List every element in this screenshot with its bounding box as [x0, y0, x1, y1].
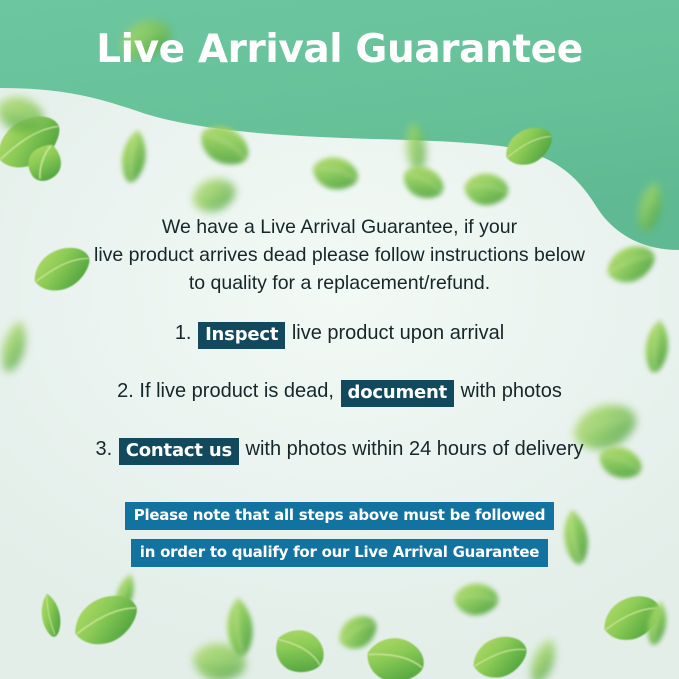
step-post-3: with photos within 24 hours of delivery	[246, 438, 584, 460]
note-bar-line-1: Please note that all steps above must be…	[125, 502, 555, 530]
note-bar-line-2: in order to qualify for our Live Arrival…	[131, 539, 548, 567]
step-post-2: with photos	[461, 380, 562, 402]
step-item-1: 1. Inspect live product upon arrival	[18, 320, 661, 348]
steps-list: 1. Inspect live product upon arrival 2. …	[18, 320, 661, 464]
note-bars: Please note that all steps above must be…	[0, 502, 679, 567]
step-post-1: live product upon arrival	[292, 322, 504, 344]
step-highlight-inspect[interactable]: Inspect	[198, 322, 285, 349]
step-highlight-document[interactable]: document	[341, 380, 455, 407]
intro-line-1: We have a Live Arrival Guarantee, if you…	[40, 213, 639, 241]
step-highlight-contact-us[interactable]: Contact us	[119, 438, 239, 465]
content-area: We have a Live Arrival Guarantee, if you…	[0, 0, 679, 679]
live-arrival-guarantee-poster: Live Arrival Guarantee We have a Live Ar…	[0, 0, 679, 679]
intro-line-3: to quality for a replacement/refund.	[40, 269, 639, 297]
intro-line-2: live product arrives dead please follow …	[40, 241, 639, 269]
step-number-3: 3.	[96, 438, 113, 460]
step-pre-2: If live product is dead,	[139, 380, 334, 402]
step-number-1: 1.	[175, 322, 192, 344]
step-item-2: 2. If live product is dead, document wit…	[18, 378, 661, 406]
intro-paragraph: We have a Live Arrival Guarantee, if you…	[40, 213, 639, 297]
page-title: Live Arrival Guarantee	[0, 30, 679, 71]
step-item-3: 3. Contact us with photos within 24 hour…	[18, 436, 661, 464]
step-number-2: 2.	[117, 380, 134, 402]
